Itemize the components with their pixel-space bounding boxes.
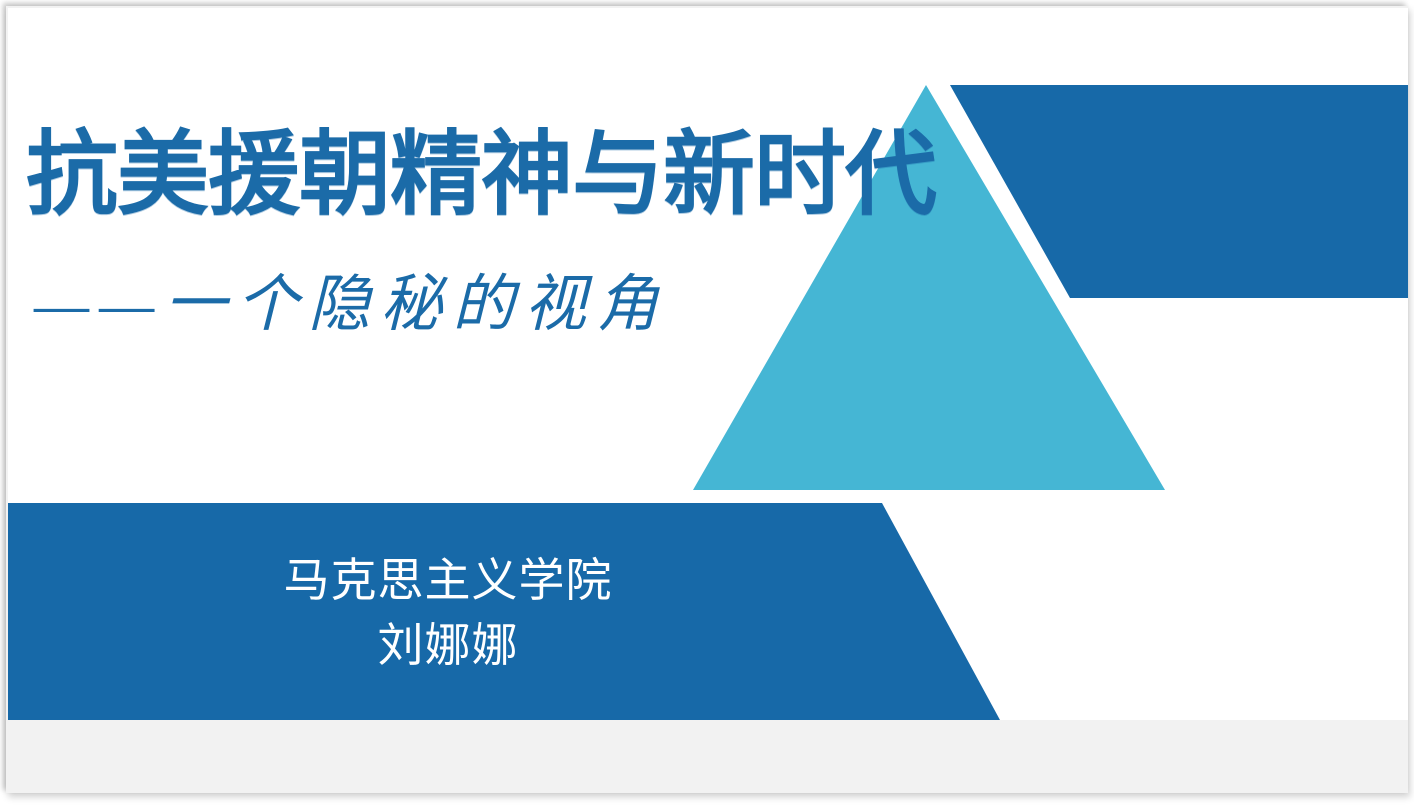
title-block: 抗美援朝精神与新时代	[26, 126, 986, 225]
byline-organization: 马克思主义学院	[8, 548, 868, 613]
byline-block: 马克思主义学院 刘娜娜	[8, 548, 868, 679]
slide-canvas[interactable]: 抗美援朝精神与新时代 ——一个隐秘的视角 马克思主义学院 刘娜娜	[8, 8, 1408, 720]
slide-subtitle: ——一个隐秘的视角	[26, 270, 668, 341]
byline-author: 刘娜娜	[8, 613, 868, 678]
subtitle-block: ——一个隐秘的视角	[26, 270, 1006, 341]
presentation-slide-view: 抗美援朝精神与新时代 ——一个隐秘的视角 马克思主义学院 刘娜娜	[0, 0, 1414, 807]
slide-title: 抗美援朝精神与新时代	[26, 126, 986, 225]
